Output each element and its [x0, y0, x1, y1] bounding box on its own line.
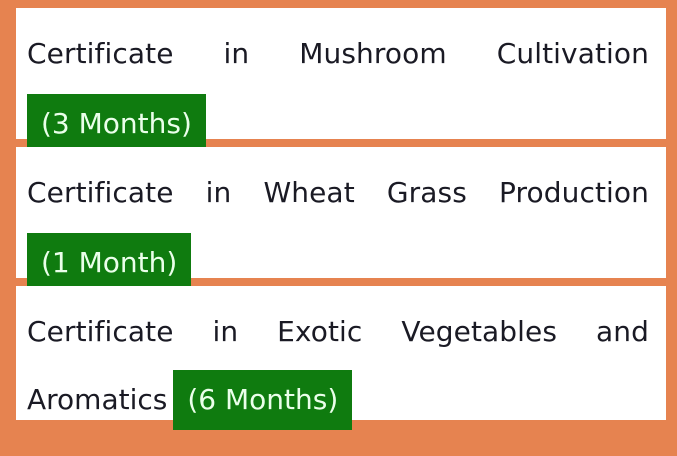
course-title-line-1: Certificate in Wheat Grass Production: [27, 161, 649, 225]
duration-badge: (6 Months): [173, 370, 352, 430]
duration-badge-row: Aromatics(6 Months): [27, 370, 666, 430]
course-title-line-2: Aromatics: [27, 370, 167, 430]
course-card-exotic-vegetables-and-aromatics[interactable]: Certificate in Exotic Vegetables and Aro…: [16, 286, 666, 420]
course-list-page: Certificate in Mushroom Cultivation (3 M…: [0, 0, 677, 456]
course-card-list: Certificate in Mushroom Cultivation (3 M…: [16, 8, 666, 422]
course-title: Certificate in Exotic Vegetables and: [27, 300, 666, 364]
course-title: Certificate in Wheat Grass Production: [27, 161, 666, 225]
course-title-line-1: Certificate in Exotic Vegetables and: [27, 300, 649, 364]
course-card-mushroom-cultivation[interactable]: Certificate in Mushroom Cultivation (3 M…: [16, 8, 666, 139]
duration-badge-row: (1 Month): [27, 233, 666, 293]
course-title-line-1: Certificate in Mushroom Cultivation: [27, 22, 649, 86]
duration-badge: (1 Month): [27, 233, 191, 293]
course-card-wheat-grass-production[interactable]: Certificate in Wheat Grass Production (1…: [16, 147, 666, 278]
duration-badge: (3 Months): [27, 94, 206, 154]
duration-badge-row: (3 Months): [27, 94, 666, 154]
course-title: Certificate in Mushroom Cultivation: [27, 22, 666, 86]
